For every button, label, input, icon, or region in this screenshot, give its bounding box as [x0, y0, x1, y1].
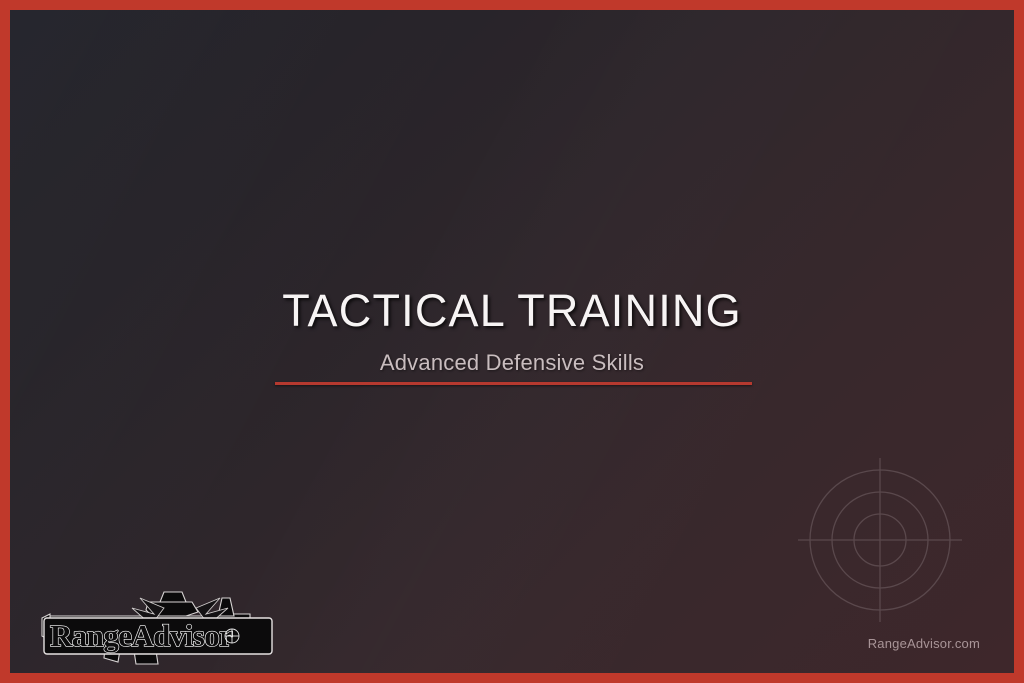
frame-border-top — [0, 0, 1024, 10]
frame-border-bottom — [0, 673, 1024, 683]
frame-border-left — [0, 0, 10, 683]
brand-logo: RangeAdvisor — [36, 572, 284, 673]
logo-reticle-icon — [225, 629, 239, 643]
page-subtitle: Advanced Defensive Skills — [0, 352, 1024, 374]
logo-wordmark: RangeAdvisor — [50, 618, 233, 653]
presentation-slide: RangeAdvisor RangeAdvisor.com TACTICAL T… — [0, 0, 1024, 683]
page-title: TACTICAL TRAINING — [0, 288, 1024, 333]
slide-canvas: RangeAdvisor RangeAdvisor.com — [10, 10, 1014, 673]
frame-border-right — [1014, 0, 1024, 683]
crosshair-target-icon — [790, 450, 970, 630]
footer-website-url: RangeAdvisor.com — [868, 636, 980, 651]
accent-divider — [275, 382, 752, 385]
